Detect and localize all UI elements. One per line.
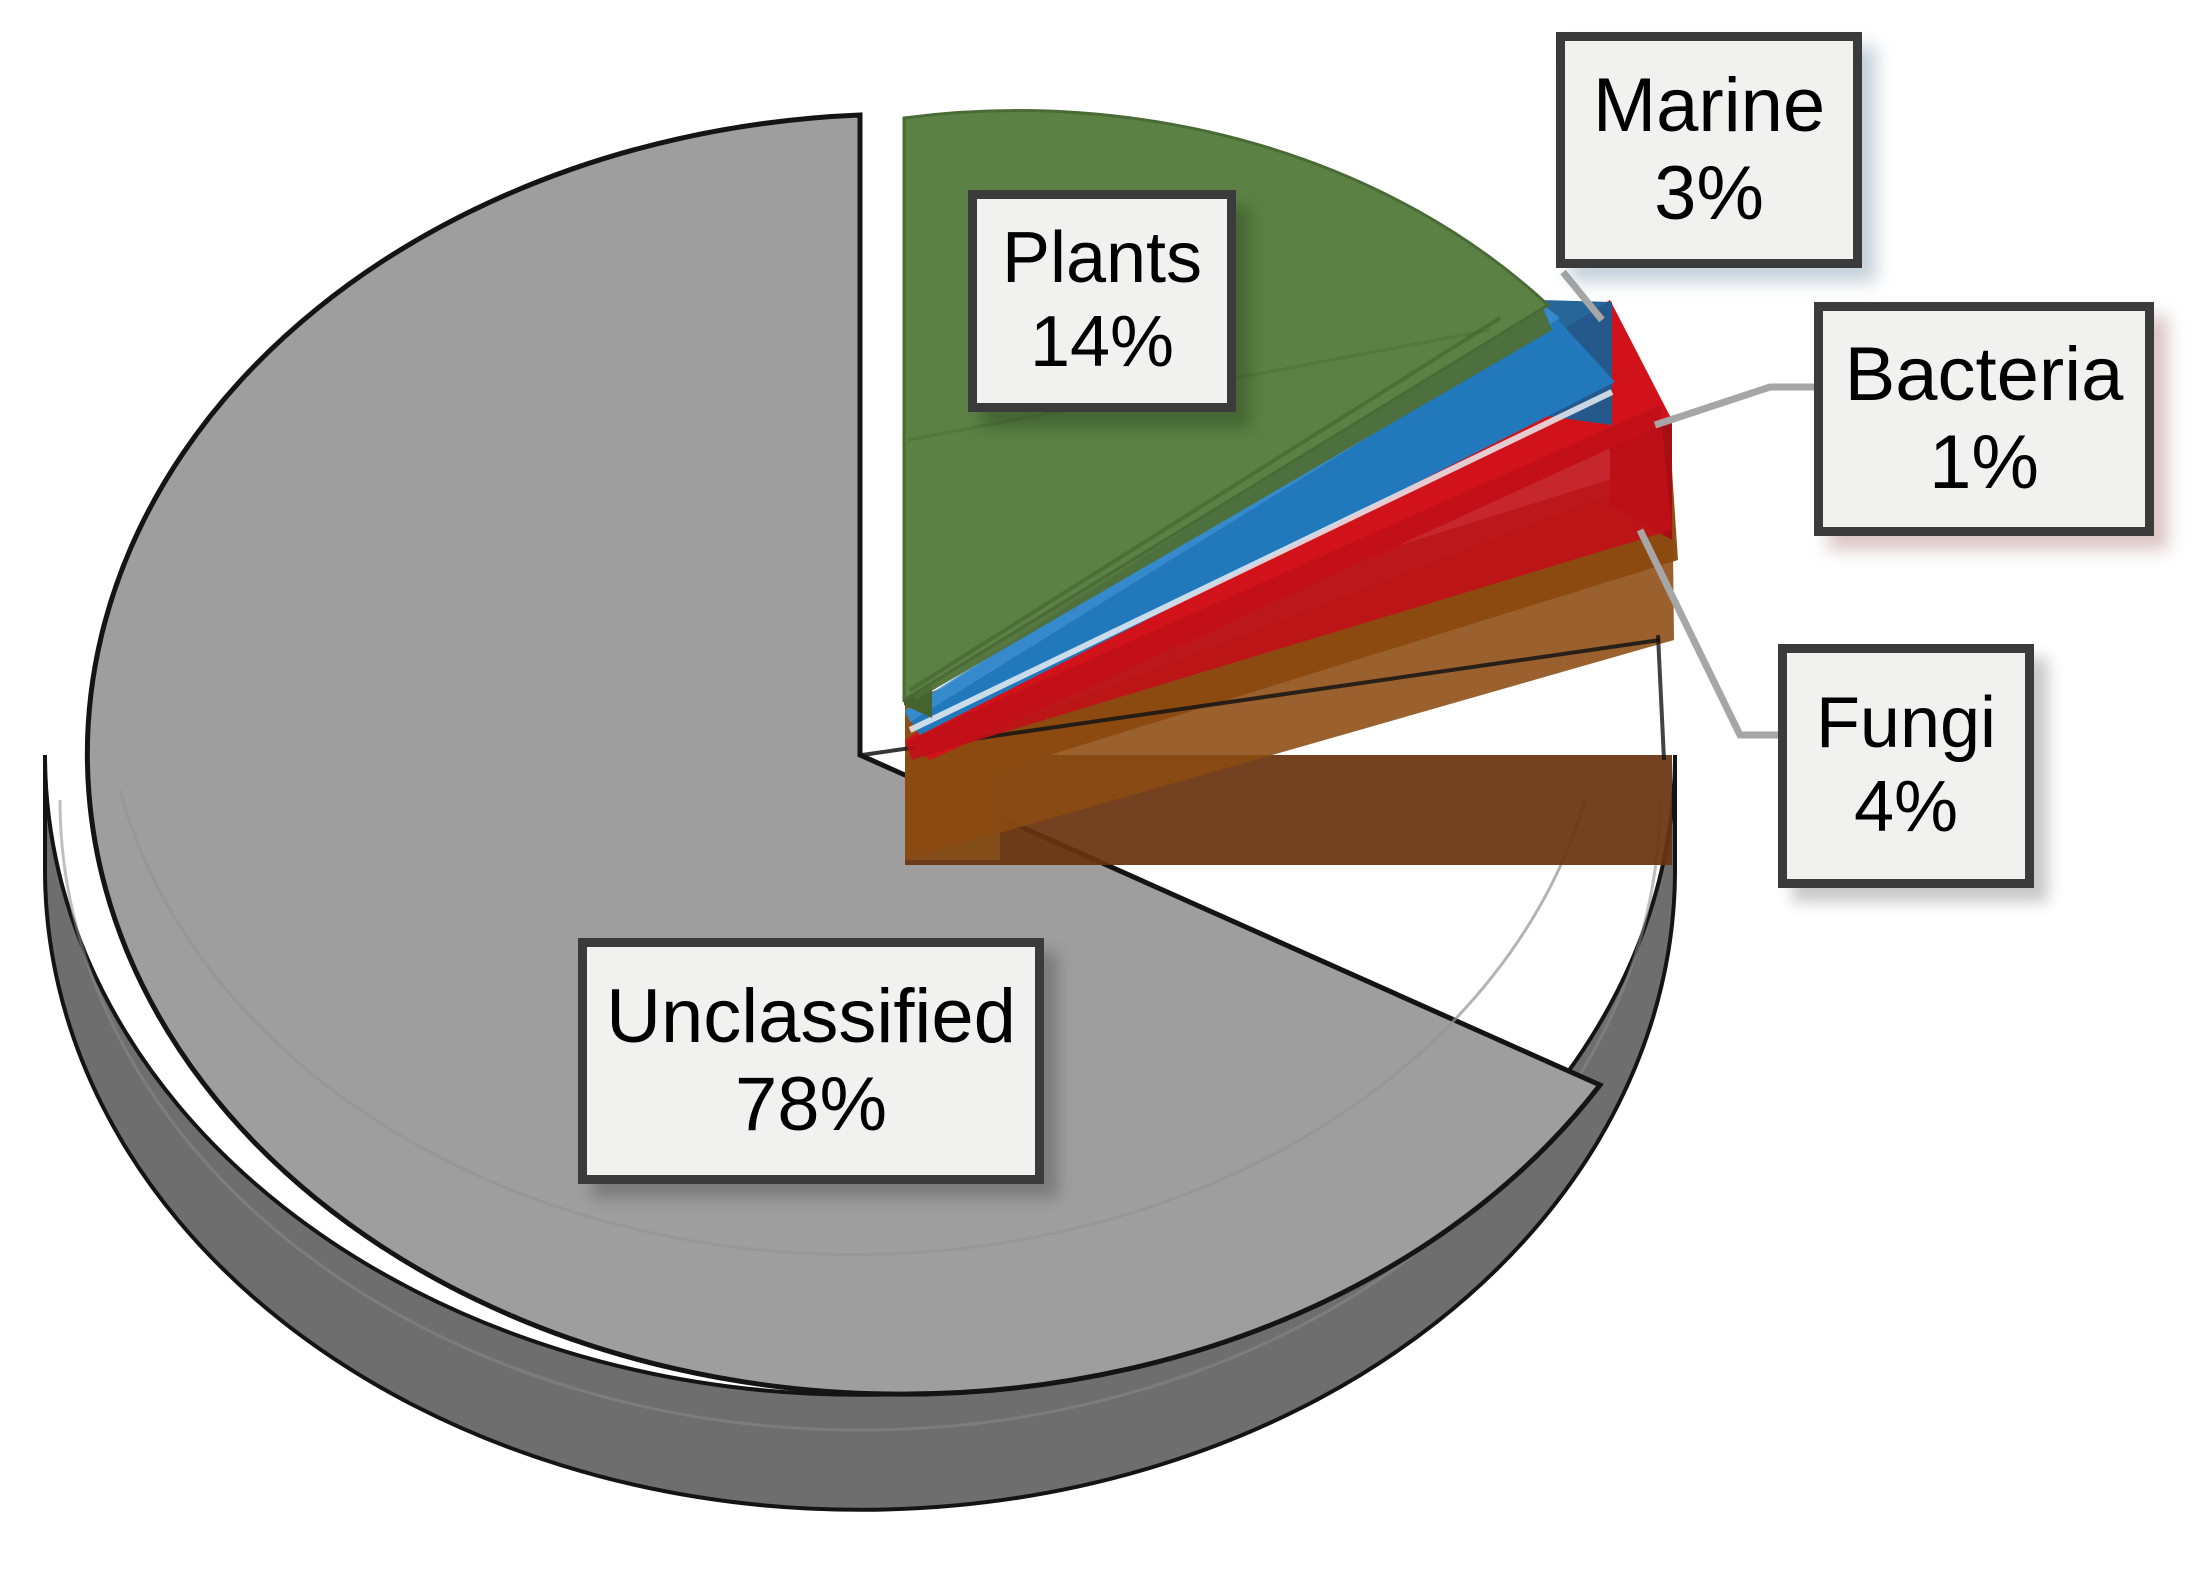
slice-label-plants-name: Plants [1002,217,1202,301]
slice-label-bacteria[interactable]: Bacteria 1% [1814,302,2154,536]
leader-line-bacteria [1655,387,1816,425]
slice-label-bacteria-value: 1% [1929,419,2039,507]
slice-label-fungi[interactable]: Fungi 4% [1778,644,2034,888]
slice-label-unclassified-value: 78% [735,1061,887,1149]
slice-label-fungi-value: 4% [1854,766,1958,850]
slice-label-plants[interactable]: Plants 14% [968,190,1236,412]
slice-label-marine-name: Marine [1593,62,1825,150]
pie-chart-figure: Plants 14% Marine 3% Bacteria 1% Fungi 4… [0,0,2196,1592]
slice-label-bacteria-name: Bacteria [1845,331,2124,419]
slice-label-unclassified[interactable]: Unclassified 78% [578,938,1044,1184]
slice-label-plants-value: 14% [1030,301,1174,385]
slice-label-unclassified-name: Unclassified [606,973,1016,1061]
slice-label-marine-value: 3% [1654,150,1764,238]
slice-label-fungi-name: Fungi [1816,682,1996,766]
slice-label-marine[interactable]: Marine 3% [1556,32,1862,268]
slice-outline-fungi-right [1658,635,1664,760]
